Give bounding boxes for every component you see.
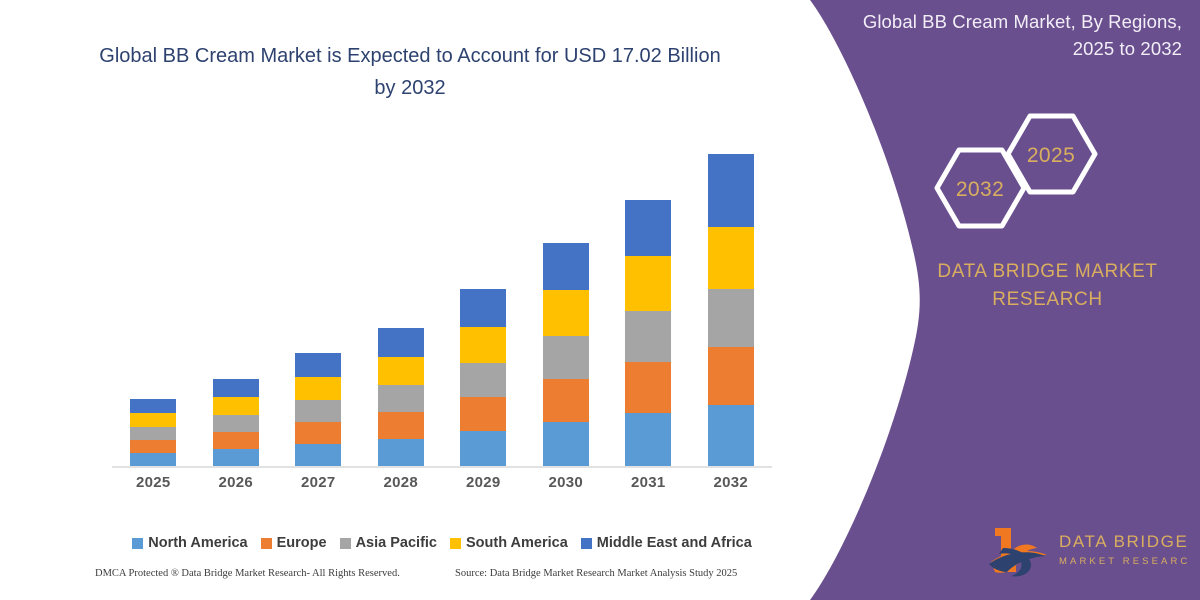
brand-name-line1: DATA BRIDGE MARKET <box>905 258 1190 286</box>
legend-label: Middle East and Africa <box>597 535 752 551</box>
stacked-bar-2029 <box>460 289 506 467</box>
bar-segment <box>213 449 259 467</box>
bar-segment <box>460 397 506 431</box>
bar-segment <box>460 289 506 327</box>
hexagon-2032: 2032 <box>937 150 1024 226</box>
footer: DMCA Protected ® Data Bridge Market Rese… <box>0 568 790 592</box>
x-axis-label-2029: 2029 <box>442 474 524 500</box>
legend-swatch-icon <box>340 538 351 549</box>
stacked-bar-2025 <box>130 399 176 467</box>
bar-segment <box>295 353 341 377</box>
bar-segment <box>625 362 671 413</box>
x-axis-label-2026: 2026 <box>195 474 277 500</box>
bar-segment <box>460 363 506 397</box>
bar-segment <box>130 440 176 453</box>
legend-swatch-icon <box>132 538 143 549</box>
bar-segment <box>460 327 506 364</box>
x-axis-labels: 20252026202720282029203020312032 <box>112 474 772 500</box>
bar-segment <box>708 289 754 347</box>
bar-segment <box>213 432 259 449</box>
svg-text:DATA BRIDGE: DATA BRIDGE <box>1059 532 1188 551</box>
bar-column <box>690 140 772 467</box>
stacked-bar-2030 <box>543 243 589 467</box>
bar-segment <box>130 399 176 413</box>
stacked-bar-2027 <box>295 353 341 467</box>
bar-column <box>112 140 194 467</box>
stacked-bar-2028 <box>378 328 424 467</box>
bar-segment <box>130 453 176 467</box>
infographic-root: Global BB Cream Market is Expected to Ac… <box>0 0 1200 600</box>
x-axis-label-2027: 2027 <box>277 474 359 500</box>
stacked-bar-2032 <box>708 154 754 467</box>
svg-text:2025: 2025 <box>1027 144 1075 167</box>
legend-item[interactable]: South America <box>450 535 568 551</box>
bar-segment <box>213 415 259 432</box>
legend-swatch-icon <box>450 538 461 549</box>
x-axis-label-2032: 2032 <box>690 474 772 500</box>
bar-segment <box>130 413 176 427</box>
x-axis-label-2028: 2028 <box>360 474 442 500</box>
chart-baseline <box>112 466 772 468</box>
bar-segment <box>543 379 589 422</box>
bar-segment <box>295 400 341 422</box>
stacked-bar-chart <box>112 140 772 467</box>
bar-segment <box>543 290 589 336</box>
bar-segment <box>213 379 259 397</box>
bar-segment <box>378 328 424 357</box>
legend-item[interactable]: Europe <box>261 535 327 551</box>
bar-segment <box>213 397 259 415</box>
bar-segment <box>625 200 671 256</box>
x-axis-label-2031: 2031 <box>607 474 689 500</box>
legend-item[interactable]: Asia Pacific <box>340 535 437 551</box>
bar-segment <box>378 412 424 439</box>
bar-column <box>360 140 442 467</box>
bar-segment <box>295 422 341 444</box>
bar-column <box>442 140 524 467</box>
stacked-bar-2026 <box>213 379 259 467</box>
footer-copyright: DMCA Protected ® Data Bridge Market Rese… <box>95 568 400 579</box>
bar-segment <box>543 336 589 379</box>
bar-segment <box>295 444 341 467</box>
x-axis-label-2025: 2025 <box>112 474 194 500</box>
bar-column <box>195 140 277 467</box>
bar-segment <box>708 227 754 289</box>
svg-text:MARKET RESEARCH: MARKET RESEARCH <box>1059 556 1190 567</box>
bar-segment <box>543 243 589 290</box>
legend-label: Asia Pacific <box>356 535 437 551</box>
legend-swatch-icon <box>581 538 592 549</box>
bar-segment <box>625 413 671 467</box>
legend-swatch-icon <box>261 538 272 549</box>
bar-segment <box>708 405 754 467</box>
legend-item[interactable]: North America <box>132 535 247 551</box>
brand-name-line2: RESEARCH <box>905 286 1190 314</box>
bar-segment <box>378 385 424 412</box>
bar-segment <box>295 377 341 400</box>
stacked-bar-2031 <box>625 200 671 467</box>
bar-segment <box>460 431 506 467</box>
bar-segment <box>130 427 176 440</box>
bar-segment <box>625 311 671 362</box>
legend-item[interactable]: Middle East and Africa <box>581 535 752 551</box>
bar-segment <box>708 154 754 227</box>
bar-column <box>525 140 607 467</box>
bar-segment <box>708 347 754 405</box>
chart-legend: North AmericaEuropeAsia PacificSouth Ame… <box>112 531 772 555</box>
brand-name: DATA BRIDGE MARKET RESEARCH <box>905 258 1190 314</box>
year-hexagons: 2025 2032 <box>925 108 1115 233</box>
dbmr-logo: DATA BRIDGE MARKET RESEARCH <box>985 522 1190 580</box>
panel-title: Global BB Cream Market, By Regions, 2025… <box>820 8 1182 62</box>
svg-text:2032: 2032 <box>956 178 1004 201</box>
logo-mark-icon <box>989 528 1047 576</box>
bar-column <box>607 140 689 467</box>
legend-label: North America <box>148 535 247 551</box>
bar-column <box>277 140 359 467</box>
bar-segment <box>378 357 424 385</box>
page-title: Global BB Cream Market is Expected to Ac… <box>90 40 730 104</box>
legend-label: South America <box>466 535 568 551</box>
bar-segment <box>378 439 424 467</box>
bar-segment <box>543 422 589 467</box>
x-axis-label-2030: 2030 <box>525 474 607 500</box>
bar-segment <box>625 256 671 311</box>
legend-label: Europe <box>277 535 327 551</box>
footer-source: Source: Data Bridge Market Research Mark… <box>455 568 737 579</box>
